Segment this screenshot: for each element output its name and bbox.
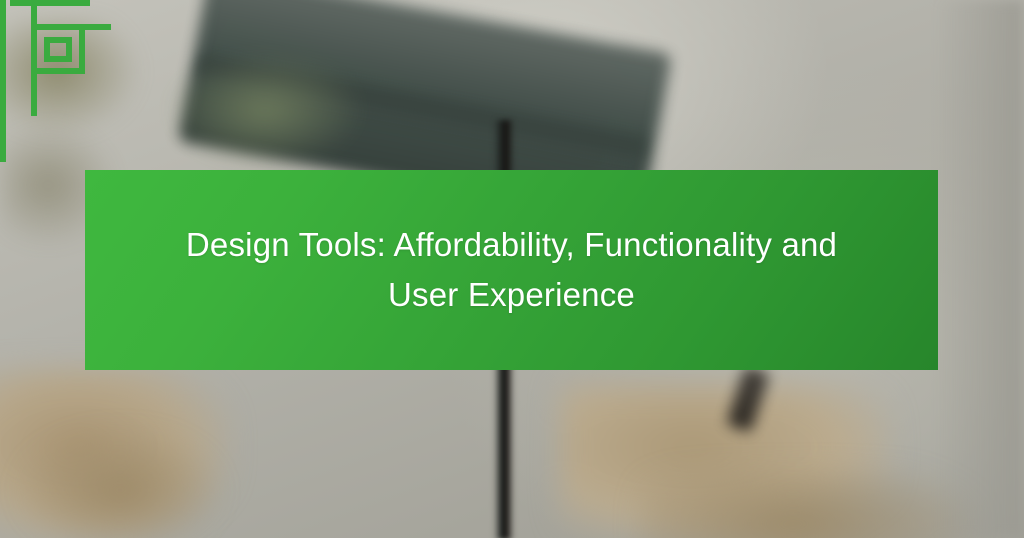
- ornament-line-top: [10, 0, 90, 6]
- title-banner: Design Tools: Affordability, Functionali…: [85, 170, 938, 370]
- page-title: Design Tools: Affordability, Functionali…: [172, 220, 852, 320]
- background-arm-right: [640, 470, 980, 538]
- background-right-vignette: [934, 0, 1024, 538]
- page-title-line-2: User Experience: [388, 276, 635, 313]
- ornament-square-inner: [44, 37, 72, 62]
- background-desk-clutter-center: [170, 55, 360, 165]
- page-title-line-1: Design Tools: Affordability, Functionali…: [186, 226, 837, 263]
- background-arm-left: [20, 430, 220, 538]
- featured-image-card: Design Tools: Affordability, Functionali…: [0, 0, 1024, 538]
- ornament-line-left-outer: [0, 0, 6, 162]
